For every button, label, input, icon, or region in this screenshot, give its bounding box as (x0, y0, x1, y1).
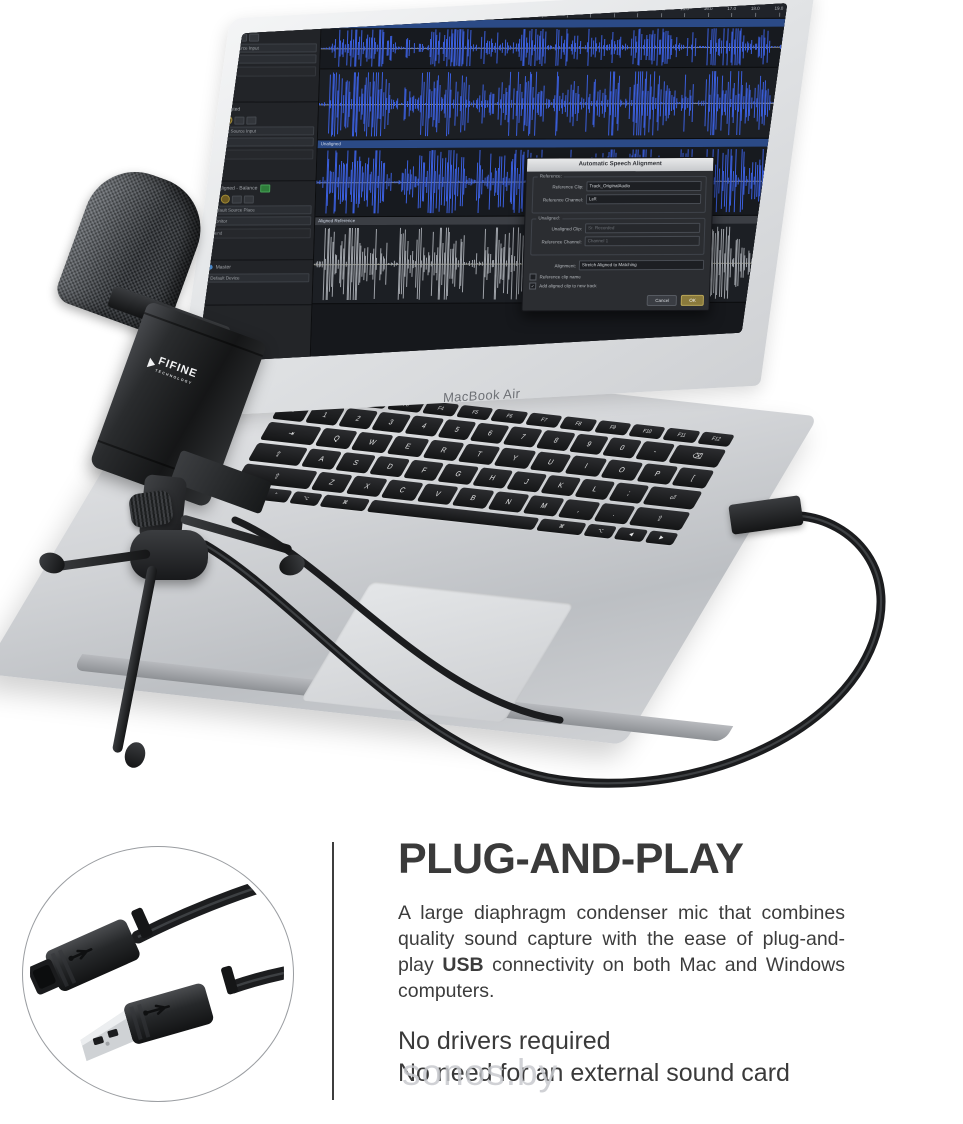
gain-knob[interactable] (215, 33, 224, 42)
track-output-select[interactable]: Music (212, 137, 314, 146)
cancel-button[interactable]: Cancel (647, 295, 677, 306)
usb-cable-illustration (18, 842, 314, 1104)
feature-text-block: PLUG-AND-PLAY A large diaphragm condense… (398, 830, 958, 1089)
key: ⇧ (628, 507, 690, 531)
hero-product-image: esc F1 F2 F3 F4 F5 F6 F7 F8 F9 F10 F11 F… (0, 0, 963, 830)
checkbox-checked-icon[interactable]: ✓ (529, 282, 536, 289)
watermark: sonos.by (402, 1052, 558, 1094)
field-label: Reference Channel: (536, 239, 582, 244)
tripod-adjust-knob[interactable] (128, 489, 174, 529)
daw-clip[interactable]: Track_Original Audio (320, 19, 787, 70)
alignment-select[interactable]: Stretch Aligned to Matching (579, 260, 704, 270)
solo-button[interactable] (246, 116, 256, 124)
unaligned-channel-select[interactable]: Channel 1 (585, 236, 700, 246)
waveform-bar (780, 258, 781, 267)
field-label: Unaligned Clip: (536, 226, 582, 231)
ruler-tick: 18.0 (751, 6, 760, 11)
daw-clip[interactable] (318, 68, 788, 141)
key: F9 (593, 420, 631, 435)
speech-alignment-dialog[interactable]: Automatic Speech Alignment Reference: Re… (521, 157, 714, 312)
field-label: Alignment: (530, 263, 576, 268)
usb-cable-inset (18, 842, 314, 1104)
bottom-feature-section: PLUG-AND-PLAY A large diaphragm condense… (0, 830, 963, 1124)
waveform-bar (782, 227, 785, 299)
ruler-tick: 19.0 (774, 6, 783, 11)
ok-button[interactable]: OK (681, 295, 704, 306)
checkbox-label: Reference clip name (539, 274, 580, 279)
description-paragraph: A large diaphragm condenser mic that com… (398, 900, 845, 1005)
key: F10 (628, 424, 666, 439)
key: ⌫ (668, 445, 727, 468)
waveform-blue-2 (318, 68, 787, 140)
group-label: Unaligned: (536, 215, 562, 220)
field-label: Reference Clip: (537, 184, 583, 189)
key: F8 (559, 416, 597, 431)
add-aligned-clip-checkbox[interactable]: ✓ Add aligned clip to new track (529, 282, 703, 290)
video-icon (216, 9, 222, 15)
unaligned-group: Unaligned: Unaligned Clip: Sr. Recorded … (530, 218, 705, 256)
key: F11 (662, 428, 700, 443)
usb-emphasis: USB (442, 954, 483, 976)
reference-group: Reference: Reference Clip: Track_Origina… (532, 176, 707, 214)
key: ⏎ (642, 486, 702, 509)
key: ◀ (614, 527, 649, 542)
waveform-bar (780, 227, 783, 299)
headline: PLUG-AND-PLAY (398, 838, 958, 881)
unaligned-clip-select[interactable]: Sr. Recorded (585, 223, 700, 233)
key: F7 (525, 413, 563, 428)
ruler-tick: 16.0 (704, 6, 713, 11)
ruler-tick: 17.0 (727, 6, 736, 11)
checkbox-label: Add aligned clip to new track (539, 283, 596, 288)
key: ⌥ (583, 524, 618, 539)
daw-panel-title: Video Reference (225, 9, 266, 15)
waveform-bar (783, 227, 786, 299)
section-divider (332, 842, 334, 1100)
reference-channel-select[interactable]: Left (586, 194, 701, 204)
track-send[interactable]: Send (211, 149, 313, 159)
waveform-blue-1 (320, 27, 787, 69)
reference-clip-select[interactable]: Track_OriginalAudio (586, 181, 701, 191)
key: F12 (697, 432, 735, 447)
tripod-leg-front (112, 565, 158, 753)
tripod-stand (30, 470, 350, 820)
key: F6 (490, 409, 528, 424)
field-label: Reference Channel: (537, 197, 583, 202)
key: ⌘ (536, 518, 587, 535)
tripod-foot (122, 740, 148, 771)
tripod-foot (36, 549, 67, 577)
dialog-title: Automatic Speech Alignment (527, 158, 714, 172)
record-dot-icon[interactable] (215, 24, 220, 29)
group-label: Reference: (538, 173, 564, 178)
reference-clip-name-checkbox[interactable]: Reference clip name (529, 273, 703, 281)
checkbox-icon[interactable] (529, 273, 536, 280)
key: F5 (456, 405, 494, 420)
tripod-foot (276, 551, 307, 579)
solo-button[interactable] (249, 33, 259, 41)
mute-button[interactable] (234, 116, 244, 124)
waveform-bar (785, 239, 786, 287)
